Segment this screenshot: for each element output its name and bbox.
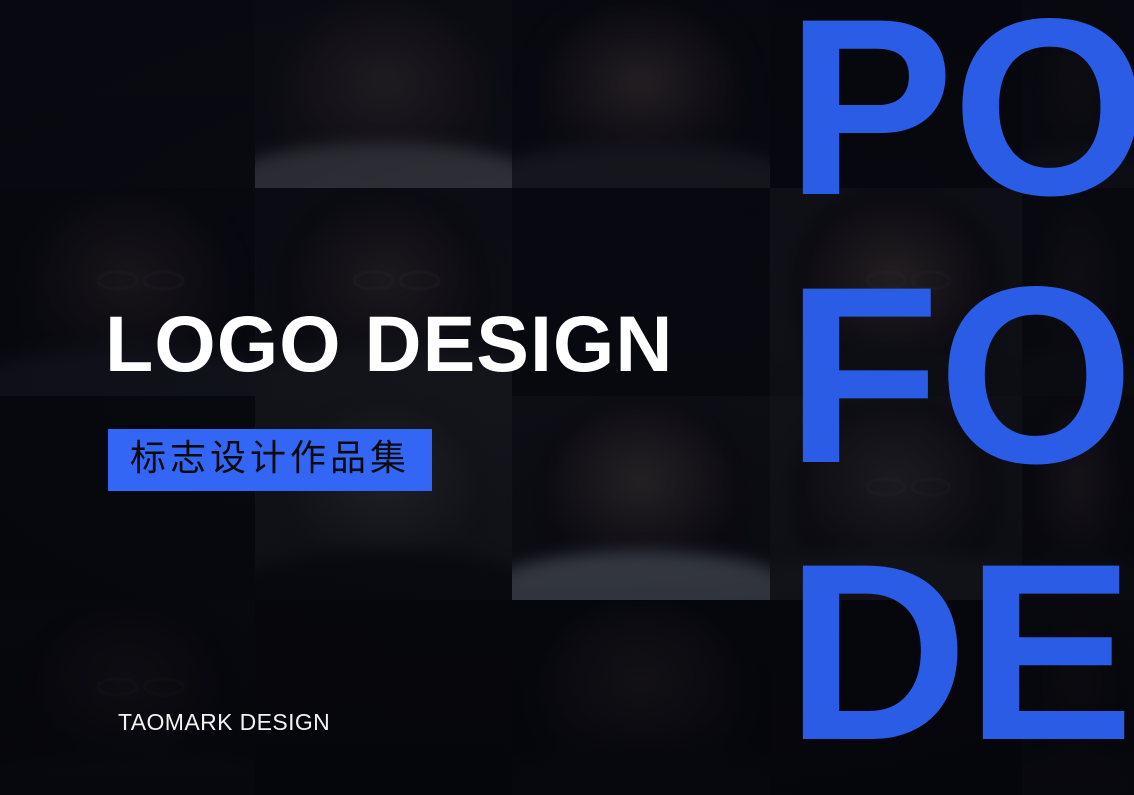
portrait-shoulders bbox=[512, 748, 770, 795]
tile-r1c4 bbox=[770, 0, 1022, 188]
portrait-glasses bbox=[97, 678, 138, 696]
tile-r1c2 bbox=[255, 0, 512, 188]
tile-r4c4 bbox=[770, 600, 1022, 795]
tile-r2c4 bbox=[770, 188, 1022, 396]
tile-r2c5 bbox=[1022, 188, 1134, 396]
portrait-shoulders bbox=[0, 748, 255, 795]
portrait-glasses bbox=[143, 271, 184, 290]
portrait-glasses bbox=[866, 478, 906, 496]
portrait-shoulders bbox=[770, 346, 1022, 396]
portrait-shoulders bbox=[255, 143, 512, 188]
portrait-glasses bbox=[911, 271, 951, 290]
tile-r1c1 bbox=[0, 0, 255, 188]
portrait-shoulders bbox=[1022, 748, 1134, 795]
portrait-shoulders bbox=[770, 551, 1022, 600]
tile-r4c2 bbox=[255, 600, 512, 795]
tile-r1c3 bbox=[512, 0, 770, 188]
portrait-glasses bbox=[399, 271, 440, 290]
tile-r4c5 bbox=[1022, 600, 1134, 795]
portrait-shoulders bbox=[512, 143, 770, 188]
portrait-shoulders bbox=[1022, 346, 1134, 396]
portrait-glasses bbox=[353, 271, 394, 290]
portrait-glasses bbox=[866, 271, 906, 290]
brand-name: TAOMARK DESIGN bbox=[118, 709, 330, 736]
tile-r4c3 bbox=[512, 600, 770, 795]
subtitle-badge: 标志设计作品集 bbox=[108, 429, 432, 491]
portrait-glasses bbox=[97, 271, 138, 290]
portrait-glasses bbox=[143, 678, 184, 696]
tile-r3c4 bbox=[770, 396, 1022, 600]
portrait-shoulders bbox=[1022, 551, 1134, 600]
headline-block: LOGO DESIGN 标志设计作品集 bbox=[105, 303, 673, 491]
portrait-shoulders bbox=[512, 551, 770, 600]
portrait-glasses bbox=[911, 478, 951, 496]
tile-r1c5 bbox=[1022, 0, 1134, 188]
portrait-shoulders bbox=[1022, 143, 1134, 188]
tile-r3c5 bbox=[1022, 396, 1134, 600]
portrait-shoulders bbox=[255, 551, 512, 600]
page-title: LOGO DESIGN bbox=[105, 303, 673, 385]
poster-canvas: PO FO DE LOGO DESIGN 标志设计作品集 TAOMARK DES… bbox=[0, 0, 1134, 795]
tile-r4c1 bbox=[0, 600, 255, 795]
